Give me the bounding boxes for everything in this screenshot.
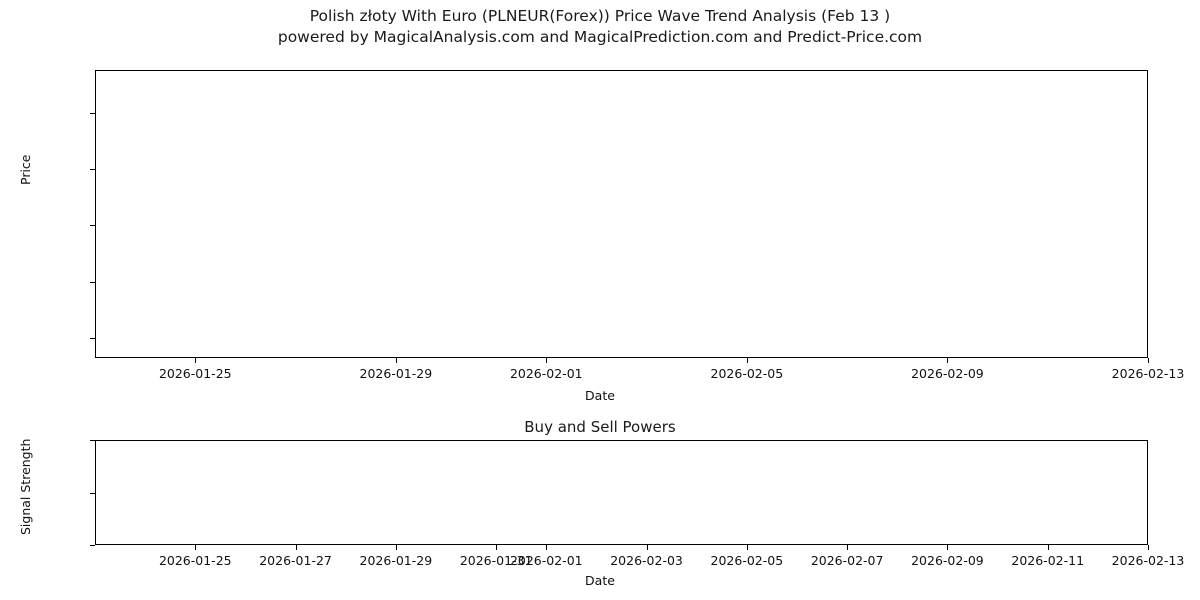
lower-ytick-mark-0	[90, 545, 95, 546]
buy-sell-powers-chart: MagicalAnalysis.comMagicalPrediction.com	[95, 440, 1148, 545]
lower-x-axis-title: Date	[0, 573, 1200, 588]
lower-xtick-mark-1	[296, 545, 297, 550]
upper-xtick-mark-1	[396, 358, 397, 363]
upper-xtick-mark-5	[1148, 358, 1149, 363]
page-title: Polish złoty With Euro (PLNEUR(Forex)) P…	[0, 6, 1200, 48]
upper-xtick-label-5: 2026-02-13	[1112, 366, 1185, 381]
upper-xtick-label-4: 2026-02-09	[911, 366, 984, 381]
lower-xtick-label-4: 2026-02-01	[510, 553, 583, 568]
lower-xtick-label-7: 2026-02-07	[811, 553, 884, 568]
upper-xtick-label-3: 2026-02-05	[711, 366, 784, 381]
upper-ytick-mark-4	[90, 113, 95, 114]
lower-xtick-mark-10	[1148, 545, 1149, 550]
lower-chart-title: Buy and Sell Powers	[0, 418, 1200, 436]
lower-xtick-label-9: 2026-02-11	[1011, 553, 1084, 568]
upper-xtick-mark-3	[747, 358, 748, 363]
upper-xtick-mark-4	[947, 358, 948, 363]
lower-ytick-mark-2	[90, 440, 95, 441]
lower-xtick-mark-5	[647, 545, 648, 550]
upper-xtick-label-1: 2026-01-29	[360, 366, 433, 381]
lower-xtick-mark-3	[496, 545, 497, 550]
lower-xtick-mark-0	[195, 545, 196, 550]
price-wave-chart: MagicalAnalysis.comMagicalPrediction.com…	[95, 70, 1148, 358]
title-line-1: Polish złoty With Euro (PLNEUR(Forex)) P…	[0, 6, 1200, 27]
lower-xtick-label-5: 2026-02-03	[610, 553, 683, 568]
title-line-2: powered by MagicalAnalysis.com and Magic…	[0, 27, 1200, 48]
lower-xtick-label-8: 2026-02-09	[911, 553, 984, 568]
lower-xtick-label-0: 2026-01-25	[159, 553, 232, 568]
upper-xtick-mark-2	[546, 358, 547, 363]
upper-ytick-mark-0	[90, 338, 95, 339]
upper-axis-frame	[95, 70, 1148, 358]
upper-ytick-mark-3	[90, 169, 95, 170]
lower-xtick-mark-7	[847, 545, 848, 550]
lower-xtick-label-6: 2026-02-05	[711, 553, 784, 568]
upper-xtick-mark-0	[195, 358, 196, 363]
lower-xtick-mark-6	[747, 545, 748, 550]
upper-ytick-mark-1	[90, 282, 95, 283]
lower-ytick-mark-1	[90, 493, 95, 494]
lower-axis-frame	[95, 440, 1148, 545]
lower-xtick-label-1: 2026-01-27	[259, 553, 332, 568]
upper-x-axis-title: Date	[0, 388, 1200, 403]
upper-xtick-label-2: 2026-02-01	[510, 366, 583, 381]
upper-ytick-mark-2	[90, 225, 95, 226]
lower-xtick-label-2: 2026-01-29	[360, 553, 433, 568]
lower-xtick-mark-2	[396, 545, 397, 550]
upper-xtick-label-0: 2026-01-25	[159, 366, 232, 381]
lower-xtick-mark-4	[546, 545, 547, 550]
lower-xtick-mark-8	[947, 545, 948, 550]
lower-xtick-label-10: 2026-02-13	[1112, 553, 1185, 568]
lower-y-axis-title: Signal Strength	[18, 439, 33, 535]
chart-page: Polish złoty With Euro (PLNEUR(Forex)) P…	[0, 0, 1200, 600]
lower-xtick-mark-9	[1048, 545, 1049, 550]
upper-y-axis-title: Price	[18, 155, 33, 186]
